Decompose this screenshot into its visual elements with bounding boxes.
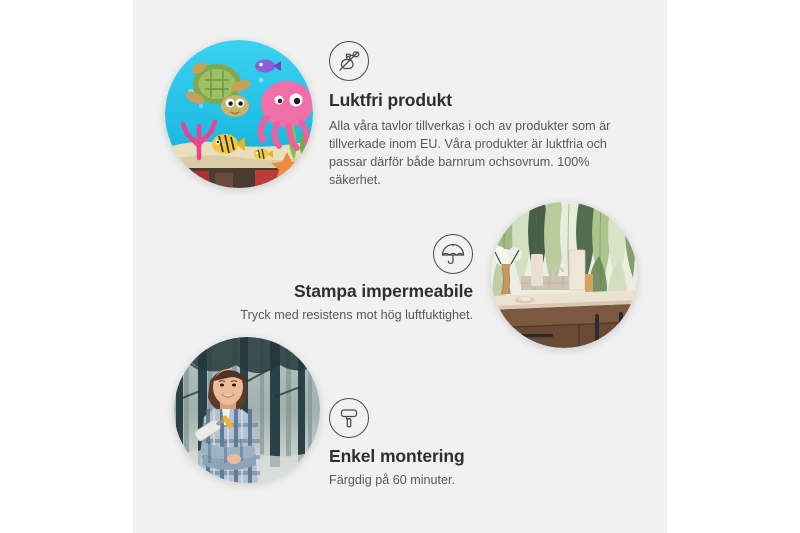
photo-decorator xyxy=(174,337,320,483)
umbrella-icon xyxy=(433,234,473,274)
feature-odourless: Luktfri produkt Alla våra tavlor tillver… xyxy=(329,41,629,189)
no-odour-spray-bottle-icon xyxy=(329,41,369,81)
feature-title: Luktfri produkt xyxy=(329,90,629,112)
paint-roller-icon xyxy=(329,398,369,438)
feature-waterproof: Stampa impermeabile Tryck med resistens … xyxy=(207,234,473,325)
feature-title: Enkel montering xyxy=(329,446,599,468)
feature-body: Tryck med resistens mot hög luftfuktighe… xyxy=(207,307,473,325)
icon-row xyxy=(207,234,473,274)
feature-body: Alla våra tavlor tillverkas i och av pro… xyxy=(329,118,629,190)
photo-bathroom xyxy=(491,202,637,348)
feature-title: Stampa impermeabile xyxy=(207,281,473,303)
feature-easy-mounting: Enkel montering Färgdig på 60 minuter. xyxy=(329,398,599,490)
feature-body: Färgdig på 60 minuter. xyxy=(329,472,599,490)
promo-infographic: Luktfri produkt Alla våra tavlor tillver… xyxy=(0,0,800,533)
content-canvas: Luktfri produkt Alla våra tavlor tillver… xyxy=(133,0,667,533)
photo-underwater xyxy=(165,40,313,188)
